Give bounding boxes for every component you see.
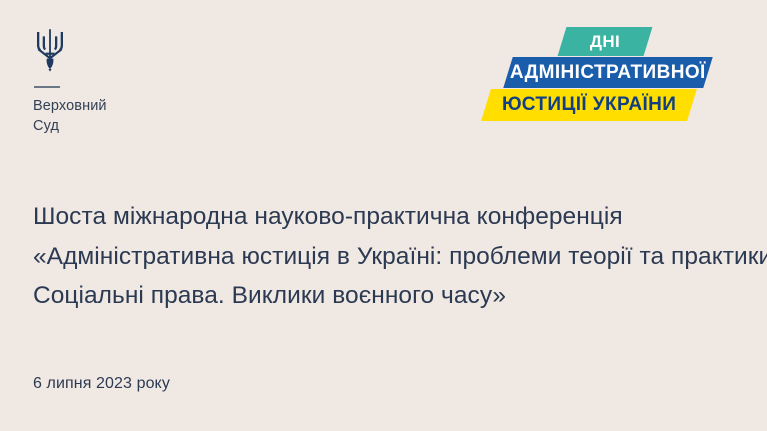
conference-title-slide: ВерховнийСуд ДНІ АДМІНІСТРАТИВНОЇ ЮСТИЦІ… <box>0 0 767 431</box>
badge-band-administrative: АДМІНІСТРАТИВНОЇ <box>503 57 712 88</box>
badge-band-justice-label: ЮСТИЦІЇ УКРАЇНИ <box>502 94 676 116</box>
court-name-line-1: Верховний <box>33 98 107 114</box>
event-badge: ДНІ АДМІНІСТРАТИВНОЇ ЮСТИЦІЇ УКРАЇНИ <box>486 27 731 122</box>
badge-band-dni-label: ДНІ <box>590 32 620 52</box>
conference-title: Шоста міжнародна науково-практична конфе… <box>33 197 733 316</box>
conference-title-line-1: Шоста міжнародна науково-практична конфе… <box>33 197 733 237</box>
conference-title-line-2: «Адміністративна юстиція в Україні: проб… <box>33 237 733 277</box>
badge-band-dni: ДНІ <box>558 27 653 56</box>
conference-title-line-3: Соціальні права. Виклики воєнного часу» <box>33 276 733 316</box>
badge-band-administrative-label: АДМІНІСТРАТИВНОЇ <box>510 62 706 84</box>
supreme-court-logo: ВерховнийСуд <box>33 28 183 136</box>
conference-date: 6 липня 2023 року <box>33 375 170 393</box>
court-name: ВерховнийСуд <box>33 97 183 136</box>
ukraine-trident-icon <box>33 28 183 72</box>
logo-divider <box>34 86 60 88</box>
badge-band-justice: ЮСТИЦІЇ УКРАЇНИ <box>481 89 697 121</box>
court-name-line-2: Суд <box>33 118 59 134</box>
